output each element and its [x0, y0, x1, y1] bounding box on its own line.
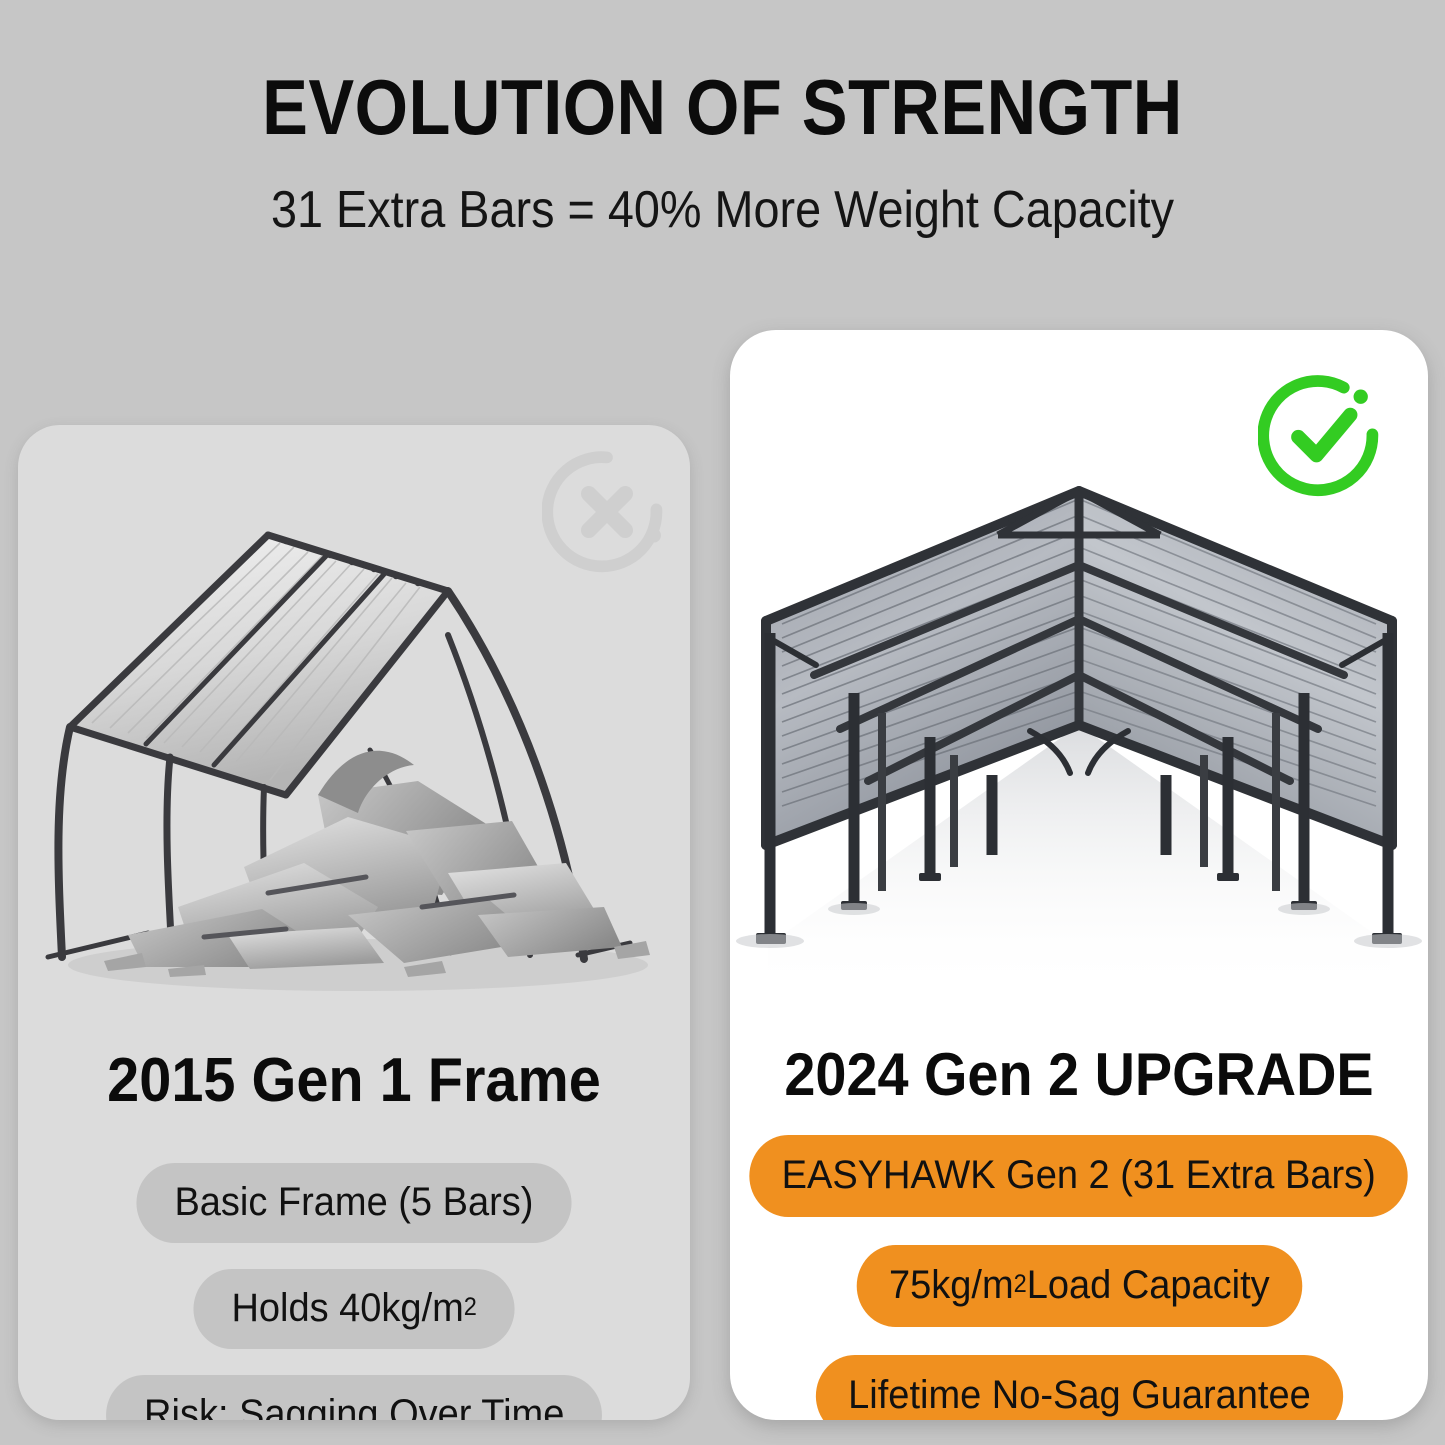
comparison-card-gen1: 2015 Gen 1 Frame Basic Frame (5 Bars) Ho…: [18, 425, 690, 1420]
feature-pill-label-suffix: Load Capacity: [1026, 1265, 1269, 1305]
page-header: EVOLUTION OF STRENGTH 31 Extra Bars = 40…: [0, 0, 1445, 236]
feature-pill-label: Lifetime No-Sag Guarantee: [848, 1375, 1311, 1415]
comparison-card-gen2: 2024 Gen 2 UPGRADE EASYHAWK Gen 2 (31 Ex…: [730, 330, 1428, 1420]
feature-pill: Basic Frame (5 Bars): [137, 1163, 572, 1243]
feature-pill-label: EASYHAWK Gen 2 (31 Extra Bars): [782, 1155, 1376, 1195]
intact-carport-illustration: [730, 425, 1428, 1005]
collapsed-carport-illustration: [18, 495, 690, 1025]
page-title: EVOLUTION OF STRENGTH: [87, 68, 1359, 146]
card-heading-gen2: 2024 Gen 2 UPGRADE: [754, 1045, 1403, 1105]
feature-pill: Holds 40kg/m2: [193, 1269, 514, 1349]
feature-pill: Risk: Sagging Over Time: [106, 1375, 602, 1420]
feature-pill-label: Basic Frame (5 Bars): [175, 1182, 534, 1222]
feature-pill: 75kg/m2 Load Capacity: [856, 1245, 1301, 1327]
feature-pill-label: Holds 40kg/m: [231, 1288, 463, 1328]
feature-pill-label: 75kg/m: [889, 1265, 1014, 1305]
feature-pill: Lifetime No-Sag Guarantee: [815, 1355, 1342, 1420]
card-heading-gen1: 2015 Gen 1 Frame: [42, 1050, 667, 1112]
feature-list-gen2: EASYHAWK Gen 2 (31 Extra Bars) 75kg/m2 L…: [730, 1135, 1428, 1420]
feature-pill: EASYHAWK Gen 2 (31 Extra Bars): [750, 1135, 1409, 1217]
page-subtitle: 31 Extra Bars = 40% More Weight Capacity: [72, 146, 1373, 236]
feature-list-gen1: Basic Frame (5 Bars) Holds 40kg/m2 Risk:…: [18, 1163, 690, 1420]
feature-pill-label: Risk: Sagging Over Time: [144, 1394, 564, 1420]
